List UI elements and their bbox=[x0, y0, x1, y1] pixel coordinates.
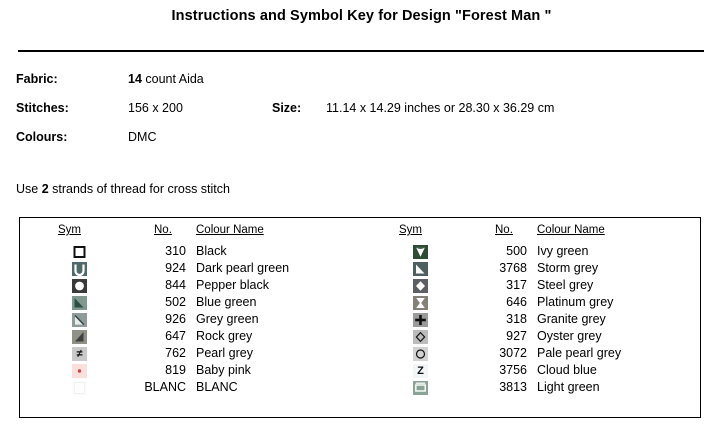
table-row: ≠762Pearl grey bbox=[20, 346, 361, 363]
table-row: BLANCBLANC bbox=[20, 380, 361, 397]
circle-filled-icon bbox=[72, 279, 87, 293]
heart-down-icon bbox=[413, 245, 428, 259]
symbol-cell bbox=[413, 313, 429, 328]
colour-name: Rock grey bbox=[196, 329, 252, 343]
thread-number: 310 bbox=[128, 244, 186, 258]
thread-number: 844 bbox=[128, 278, 186, 292]
thread-number: 762 bbox=[128, 346, 186, 360]
triangle-lower-left-icon bbox=[72, 296, 87, 310]
column-header-name: Colour Name bbox=[537, 224, 605, 236]
diamond-filled-icon bbox=[413, 279, 428, 293]
table-row: 3768Storm grey bbox=[361, 261, 702, 278]
colour-name: Ivy green bbox=[537, 244, 588, 258]
circle-outline-icon bbox=[413, 347, 428, 361]
table-row: 646Platinum grey bbox=[361, 295, 702, 312]
colour-name: Granite grey bbox=[537, 312, 606, 326]
colours-row: Colours: DMC bbox=[16, 130, 716, 159]
fabric-value: 14 count Aida bbox=[128, 72, 204, 86]
table-row: 502Blue green bbox=[20, 295, 361, 312]
size-label: Size: bbox=[272, 101, 301, 115]
rectangle-outline-icon bbox=[413, 381, 428, 395]
table-row: 310Black bbox=[20, 244, 361, 261]
symbol-cell bbox=[413, 347, 429, 362]
triangle-lower-left-white-icon bbox=[413, 262, 428, 276]
thread-number: 500 bbox=[469, 244, 527, 258]
column-header-sym: Sym bbox=[399, 224, 422, 236]
symbol-cell: Z bbox=[413, 364, 429, 379]
table-row: 647Rock grey bbox=[20, 329, 361, 346]
plus-icon bbox=[413, 313, 428, 327]
symbol-cell bbox=[72, 364, 88, 379]
colour-name: Light green bbox=[537, 380, 600, 394]
symbol-cell bbox=[72, 262, 88, 277]
symbol-cell bbox=[413, 381, 429, 396]
column-header-no: No. bbox=[495, 224, 513, 236]
diamond-outline-icon bbox=[413, 330, 428, 344]
stitches-value: 156 x 200 bbox=[128, 101, 183, 115]
table-row: Z3756Cloud blue bbox=[361, 363, 702, 380]
table-row: 317Steel grey bbox=[361, 278, 702, 295]
colour-name: Grey green bbox=[196, 312, 259, 326]
title-divider bbox=[18, 50, 704, 52]
table-row: 926Grey green bbox=[20, 312, 361, 329]
table-row: 819Baby pink bbox=[20, 363, 361, 380]
colours-label: Colours: bbox=[16, 130, 67, 144]
thread-number: 646 bbox=[469, 295, 527, 309]
hash-icon: ≠ bbox=[72, 347, 87, 361]
pattern-metadata: Fabric: 14 count Aida Stitches: 156 x 20… bbox=[16, 72, 716, 159]
symbol-cell bbox=[413, 296, 429, 311]
symbol-cell bbox=[413, 330, 429, 345]
letter-u-icon bbox=[72, 262, 87, 276]
symbol-key-table: Sym No. Colour Name 310Black924Dark pear… bbox=[19, 217, 701, 418]
size-value: 11.14 x 14.29 inches or 28.30 x 36.29 cm bbox=[326, 101, 554, 115]
symbol-cell bbox=[72, 330, 88, 345]
key-rows-left: 310Black924Dark pearl green844Pepper bla… bbox=[20, 244, 361, 397]
colour-name: Cloud blue bbox=[537, 363, 597, 377]
instruction-sheet: Instructions and Symbol Key for Design "… bbox=[0, 0, 723, 433]
letter-z-icon: Z bbox=[413, 364, 428, 378]
colour-name: Pale pearl grey bbox=[537, 346, 621, 360]
triangle-lower-right-icon bbox=[72, 330, 87, 344]
column-header-sym: Sym bbox=[58, 224, 81, 236]
symbol-cell bbox=[72, 313, 88, 328]
colour-name: Baby pink bbox=[196, 363, 251, 377]
symbol-cell bbox=[72, 245, 88, 260]
thread-number: BLANC bbox=[128, 380, 186, 394]
diagonal-arrow-icon bbox=[72, 313, 87, 327]
colour-name: Dark pearl green bbox=[196, 261, 289, 275]
column-header-name: Colour Name bbox=[196, 224, 264, 236]
key-column-right: Sym No. Colour Name 500Ivy green3768Stor… bbox=[361, 218, 702, 417]
thread-number: 3768 bbox=[469, 261, 527, 275]
table-row: 500Ivy green bbox=[361, 244, 702, 261]
symbol-cell: ≠ bbox=[72, 347, 88, 362]
thread-number: 926 bbox=[128, 312, 186, 326]
stitches-label: Stitches: bbox=[16, 101, 69, 115]
table-row: 3072Pale pearl grey bbox=[361, 346, 702, 363]
symbol-cell bbox=[413, 279, 429, 294]
colour-name: Blue green bbox=[196, 295, 256, 309]
symbol-cell bbox=[413, 245, 429, 260]
thread-number: 3756 bbox=[469, 363, 527, 377]
table-row: 318Granite grey bbox=[361, 312, 702, 329]
colour-name: Black bbox=[196, 244, 227, 258]
fabric-row: Fabric: 14 count Aida bbox=[16, 72, 716, 101]
stitches-row: Stitches: 156 x 200 Size: 11.14 x 14.29 … bbox=[16, 101, 716, 130]
dot-icon bbox=[72, 364, 87, 378]
fabric-label: Fabric: bbox=[16, 72, 58, 86]
hourglass-icon bbox=[413, 296, 428, 310]
column-header-no: No. bbox=[154, 224, 172, 236]
thread-number: 3072 bbox=[469, 346, 527, 360]
blank-icon bbox=[72, 381, 87, 395]
colour-name: BLANC bbox=[196, 380, 238, 394]
key-rows-right: 500Ivy green3768Storm grey317Steel grey6… bbox=[361, 244, 702, 397]
strands-count: 2 bbox=[42, 182, 49, 196]
table-row: 927Oyster grey bbox=[361, 329, 702, 346]
symbol-cell bbox=[72, 296, 88, 311]
key-column-left: Sym No. Colour Name 310Black924Dark pear… bbox=[20, 218, 361, 417]
colours-value: DMC bbox=[128, 130, 156, 144]
thread-number: 647 bbox=[128, 329, 186, 343]
thread-number: 318 bbox=[469, 312, 527, 326]
square-outline-icon bbox=[72, 245, 87, 259]
strands-prefix: Use bbox=[16, 182, 42, 196]
thread-number: 502 bbox=[128, 295, 186, 309]
table-row: 844Pepper black bbox=[20, 278, 361, 295]
thread-number: 819 bbox=[128, 363, 186, 377]
colour-name: Oyster grey bbox=[537, 329, 602, 343]
colour-name: Pearl grey bbox=[196, 346, 253, 360]
colour-name: Storm grey bbox=[537, 261, 598, 275]
page-title: Instructions and Symbol Key for Design "… bbox=[0, 8, 723, 24]
colour-name: Platinum grey bbox=[537, 295, 613, 309]
table-row: 3813Light green bbox=[361, 380, 702, 397]
fabric-count: 14 bbox=[128, 72, 142, 86]
thread-number: 3813 bbox=[469, 380, 527, 394]
symbol-cell bbox=[72, 279, 88, 294]
symbol-cell bbox=[72, 381, 88, 396]
thread-number: 317 bbox=[469, 278, 527, 292]
strands-suffix: strands of thread for cross stitch bbox=[49, 182, 230, 196]
colour-name: Steel grey bbox=[537, 278, 593, 292]
thread-number: 924 bbox=[128, 261, 186, 275]
table-row: 924Dark pearl green bbox=[20, 261, 361, 278]
fabric-unit: count Aida bbox=[142, 72, 204, 86]
symbol-cell bbox=[413, 262, 429, 277]
colour-name: Pepper black bbox=[196, 278, 269, 292]
strands-instruction: Use 2 strands of thread for cross stitch bbox=[16, 182, 230, 196]
thread-number: 927 bbox=[469, 329, 527, 343]
